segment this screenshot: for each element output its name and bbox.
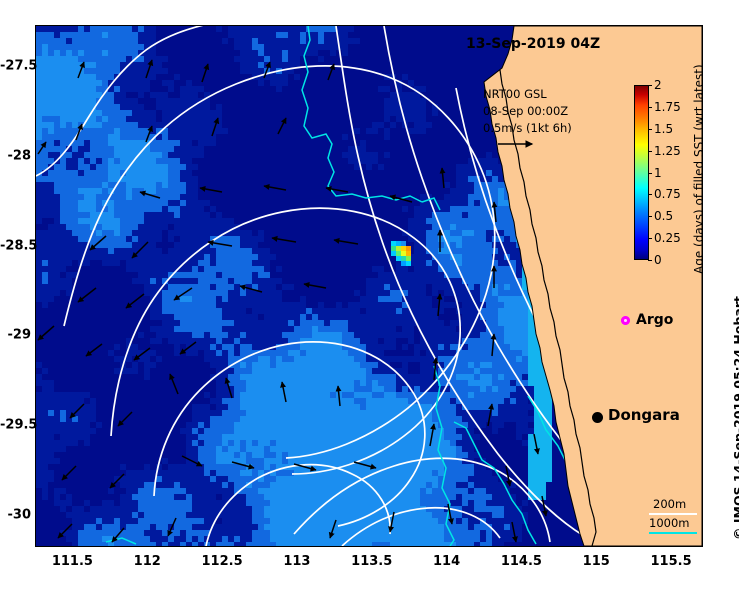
x-tick-label: 112.5: [202, 554, 243, 569]
colorbar-tick-label: 1.75: [654, 100, 681, 114]
colorbar-tick: [648, 151, 652, 152]
colorbar-tick-label: 1: [654, 166, 662, 180]
y-tick: [35, 157, 36, 158]
map-plot-area: Dongara Argo 13-Sep-2019 04Z NRT00 GSL 0…: [35, 25, 703, 547]
argo-legend-label: Argo: [636, 312, 673, 328]
annotation-line-3: 0.5m/s (1kt 6h): [483, 121, 572, 135]
colorbar-tick-label: 1.5: [654, 122, 673, 136]
colorbar-tick: [648, 107, 652, 108]
y-tick: [35, 336, 36, 337]
colorbar-tick-label: 1.25: [654, 144, 681, 158]
y-tick-label: -28: [0, 148, 31, 163]
annotation-line-2: 08-Sep 00:00Z: [483, 104, 568, 118]
colorbar-title: Age (days) of filled SST (wrt latest): [692, 64, 703, 274]
y-tick-label: -30: [0, 507, 31, 522]
colorbar-tick: [648, 216, 652, 217]
x-tick-label: 112: [134, 554, 161, 569]
y-tick-label: -29.5: [0, 417, 31, 432]
colorbar-tick-label: 2: [654, 78, 662, 92]
colorbar: [634, 85, 649, 260]
colorbar-tick-label: 0.75: [654, 187, 681, 201]
x-tick-label: 115.5: [651, 554, 692, 569]
annotation-line-1: NRT00 GSL: [483, 87, 547, 101]
colorbar-tick-label: 0.5: [654, 209, 673, 223]
vector-scale-arrow: [496, 137, 542, 151]
x-tick-label: 114.5: [501, 554, 542, 569]
colorbar-tick: [648, 238, 652, 239]
colorbar-tick: [648, 85, 652, 86]
sst-age-map-figure: Dongara Argo 13-Sep-2019 04Z NRT00 GSL 0…: [0, 0, 739, 592]
colorbar-tick: [648, 260, 652, 261]
imos-credit: © IMOS 14-Sep-2019 05:24 Hobart: [731, 296, 739, 540]
y-tick-label: -27.5: [0, 59, 31, 74]
depth-1000m-label: 1000m: [649, 516, 689, 530]
x-tick-label: 111.5: [52, 554, 93, 569]
y-tick-label: -29: [0, 328, 31, 343]
x-tick-label: 115: [583, 554, 610, 569]
dongara-marker: [592, 412, 603, 423]
colorbar-tick-label: 0: [654, 253, 662, 267]
depth-1000m-line: [649, 532, 697, 534]
argo-marker: [621, 316, 630, 325]
x-tick-label: 113: [283, 554, 310, 569]
colorbar-tick: [648, 194, 652, 195]
colorbar-tick-label: 0.25: [654, 231, 681, 245]
depth-200m-line: [649, 513, 697, 515]
depth-200m-label: 200m: [653, 497, 686, 511]
land-mask: [36, 26, 702, 546]
y-tick: [35, 516, 36, 517]
dongara-label: Dongara: [608, 406, 680, 424]
colorbar-tick: [648, 129, 652, 130]
y-tick-label: -28.5: [0, 238, 31, 253]
x-tick-label: 114: [433, 554, 460, 569]
plot-title: 13-Sep-2019 04Z: [466, 36, 600, 52]
x-tick-label: 113.5: [351, 554, 392, 569]
colorbar-tick: [648, 173, 652, 174]
